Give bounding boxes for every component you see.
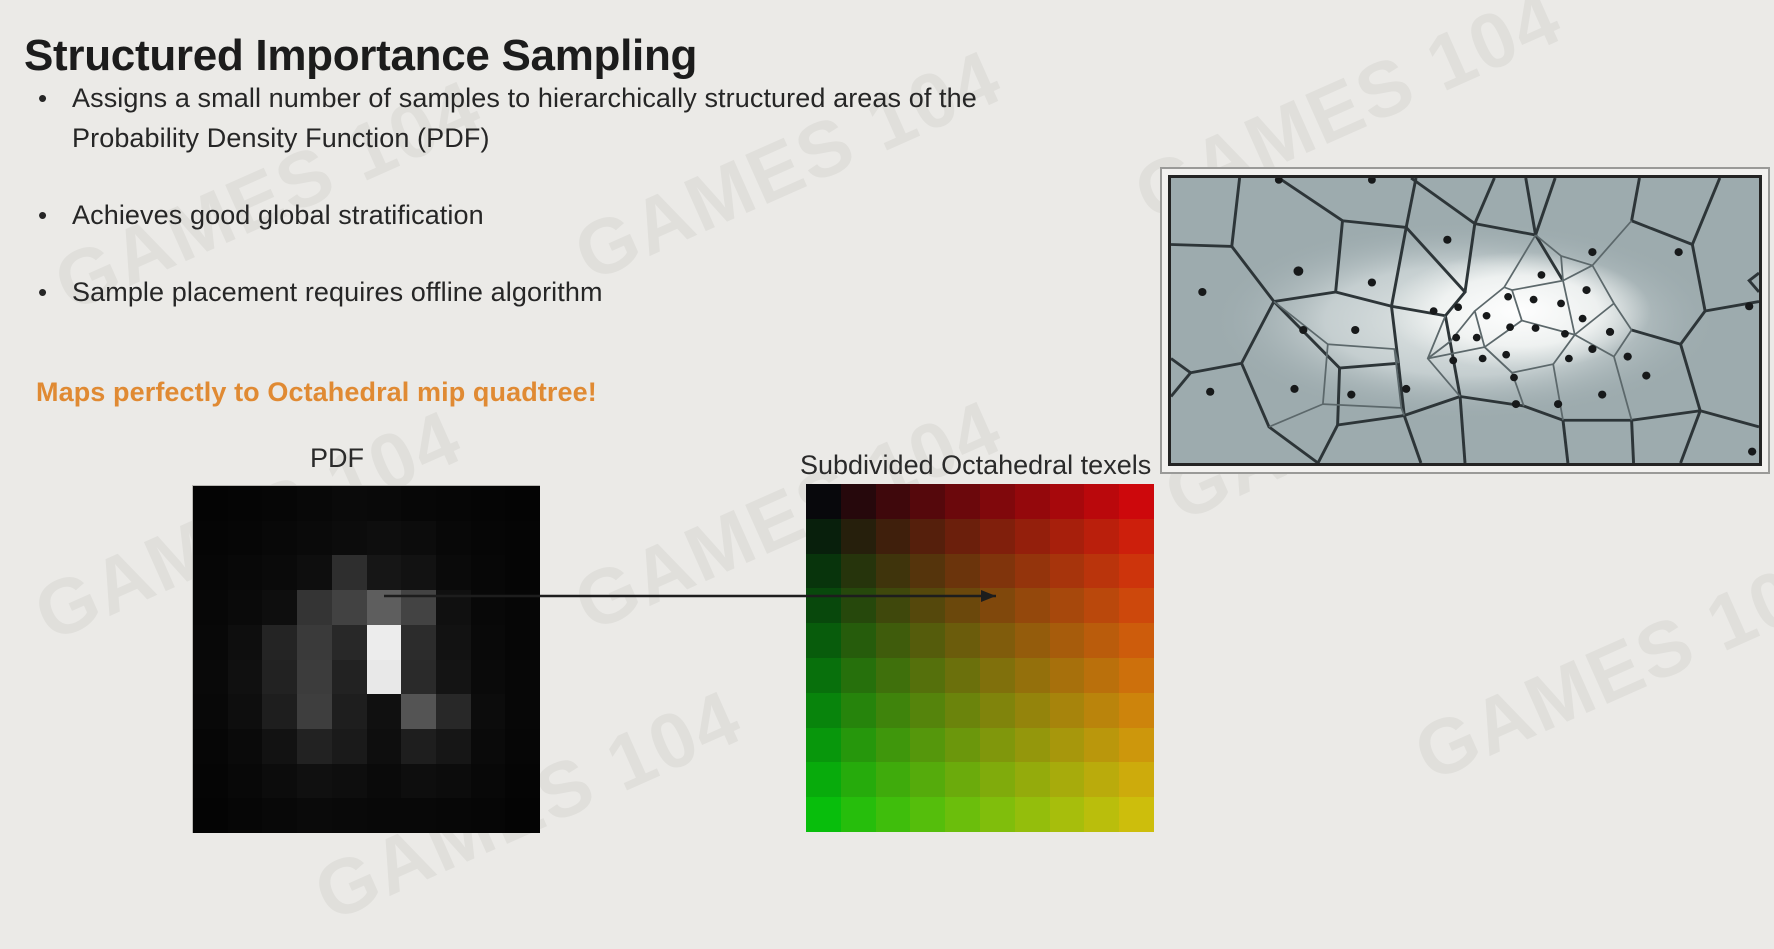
octahedral-texel <box>1015 693 1050 728</box>
pdf-texel <box>471 555 506 590</box>
pdf-texel <box>262 798 297 833</box>
pdf-texel <box>401 555 436 590</box>
octahedral-texel <box>841 519 876 554</box>
pdf-texel <box>436 625 471 660</box>
watermark-text: GAMES 104 <box>1401 531 1774 800</box>
pdf-texel <box>471 694 506 729</box>
octahedral-texel <box>876 554 911 589</box>
pdf-texel <box>262 729 297 764</box>
octahedral-texel <box>1084 554 1119 589</box>
pdf-texel <box>193 590 228 625</box>
voronoi-diagram-panel <box>1160 167 1770 474</box>
pdf-texel <box>471 729 506 764</box>
pdf-texel <box>505 764 540 799</box>
texels-caption: Subdivided Octahedral texels <box>800 450 1151 481</box>
octahedral-texel <box>1084 623 1119 658</box>
octahedral-texel <box>910 728 945 763</box>
octahedral-texel <box>980 554 1015 589</box>
pdf-texel <box>262 694 297 729</box>
octahedral-texel <box>1015 797 1050 832</box>
pdf-texel <box>262 764 297 799</box>
pdf-texel <box>505 590 540 625</box>
pdf-texel <box>262 486 297 521</box>
octahedral-texel <box>841 797 876 832</box>
pdf-texel <box>262 625 297 660</box>
octahedral-texel <box>1119 762 1154 797</box>
octahedral-texel <box>1050 588 1085 623</box>
octahedral-texel <box>1050 623 1085 658</box>
pdf-texel <box>228 625 263 660</box>
pdf-texel <box>297 694 332 729</box>
octahedral-texel <box>910 797 945 832</box>
pdf-texel <box>367 521 402 556</box>
pdf-texel <box>262 521 297 556</box>
octahedral-texel <box>1084 519 1119 554</box>
pdf-texel <box>193 729 228 764</box>
pdf-texel <box>332 590 367 625</box>
pdf-texel <box>193 694 228 729</box>
highlight-callout-text: Maps perfectly to Octahedral mip quadtre… <box>36 377 597 408</box>
octahedral-texel <box>945 554 980 589</box>
octahedral-texel <box>1015 728 1050 763</box>
pdf-texel <box>471 590 506 625</box>
pdf-texel <box>505 555 540 590</box>
octahedral-texel <box>1119 554 1154 589</box>
octahedral-texel <box>1050 797 1085 832</box>
pdf-texel <box>505 660 540 695</box>
octahedral-texel <box>806 762 841 797</box>
octahedral-texel <box>1015 588 1050 623</box>
octahedral-texel <box>1050 554 1085 589</box>
pdf-texel <box>228 798 263 833</box>
octahedral-texel <box>945 762 980 797</box>
octahedral-texel <box>910 762 945 797</box>
pdf-texel <box>401 729 436 764</box>
pdf-texel <box>401 694 436 729</box>
pdf-texel <box>297 590 332 625</box>
pdf-texel <box>401 590 436 625</box>
octahedral-texel <box>980 658 1015 693</box>
pdf-texel <box>505 798 540 833</box>
octahedral-texel <box>945 693 980 728</box>
pdf-texel <box>401 521 436 556</box>
octahedral-texel <box>876 588 911 623</box>
octahedral-texel <box>1015 554 1050 589</box>
pdf-texel <box>367 555 402 590</box>
pdf-texel <box>193 798 228 833</box>
octahedral-texel <box>910 588 945 623</box>
octahedral-texel <box>980 519 1015 554</box>
pdf-texel <box>332 694 367 729</box>
octahedral-texel <box>841 484 876 519</box>
octahedral-texel <box>841 762 876 797</box>
octahedral-texel <box>806 554 841 589</box>
octahedral-texel <box>945 623 980 658</box>
octahedral-texel <box>806 519 841 554</box>
octahedral-texel <box>841 623 876 658</box>
bullet-marker-icon: • <box>34 195 72 235</box>
pdf-texel <box>505 694 540 729</box>
pdf-texel <box>367 729 402 764</box>
octahedral-texel <box>980 693 1015 728</box>
pdf-texel <box>228 660 263 695</box>
octahedral-texel <box>806 658 841 693</box>
pdf-texel <box>505 521 540 556</box>
octahedral-texel <box>1015 762 1050 797</box>
pdf-texel <box>332 798 367 833</box>
octahedral-texel <box>1050 519 1085 554</box>
octahedral-texel <box>1119 693 1154 728</box>
octahedral-texel <box>980 484 1015 519</box>
octahedral-texel <box>806 588 841 623</box>
pdf-texel <box>436 521 471 556</box>
octahedral-texel <box>1084 797 1119 832</box>
pdf-texel <box>367 590 402 625</box>
pdf-texel <box>193 660 228 695</box>
pdf-pixel-grid <box>192 485 540 833</box>
pdf-texel <box>332 486 367 521</box>
pdf-texel <box>297 521 332 556</box>
pdf-texel <box>297 486 332 521</box>
pdf-texel <box>297 555 332 590</box>
octahedral-texel <box>876 693 911 728</box>
octahedral-texel <box>1015 519 1050 554</box>
octahedral-texel <box>1015 484 1050 519</box>
octahedral-texel <box>841 693 876 728</box>
pdf-texel <box>401 625 436 660</box>
pdf-texel <box>436 555 471 590</box>
bullet-text: Achieves good global stratification <box>72 195 484 235</box>
bullet-text: Sample placement requires offline algori… <box>72 272 603 312</box>
pdf-texel <box>367 486 402 521</box>
voronoi-diagram <box>1168 175 1762 466</box>
pdf-texel <box>332 660 367 695</box>
pdf-texel <box>262 590 297 625</box>
octahedral-texel <box>1015 623 1050 658</box>
octahedral-texel <box>876 623 911 658</box>
octahedral-texel <box>910 554 945 589</box>
octahedral-texel <box>910 658 945 693</box>
pdf-texel <box>436 486 471 521</box>
octahedral-texel <box>945 797 980 832</box>
octahedral-texel <box>806 797 841 832</box>
octahedral-texel <box>1119 519 1154 554</box>
octahedral-texel <box>806 484 841 519</box>
pdf-texel <box>471 521 506 556</box>
octahedral-texel <box>1050 484 1085 519</box>
octahedral-texel <box>876 484 911 519</box>
pdf-texel <box>436 764 471 799</box>
pdf-texel <box>297 764 332 799</box>
octahedral-texel <box>945 519 980 554</box>
pdf-texel <box>505 486 540 521</box>
octahedral-texel <box>1084 728 1119 763</box>
octahedral-texel <box>876 728 911 763</box>
octahedral-texel <box>1050 762 1085 797</box>
octahedral-texel <box>1084 484 1119 519</box>
pdf-texel <box>332 764 367 799</box>
pdf-texel <box>228 555 263 590</box>
octahedral-texel <box>841 588 876 623</box>
octahedral-texel <box>1050 658 1085 693</box>
pdf-texel <box>228 694 263 729</box>
octahedral-texel <box>841 658 876 693</box>
pdf-texel <box>193 521 228 556</box>
octahedral-texel <box>876 519 911 554</box>
pdf-texel <box>228 521 263 556</box>
octahedral-texel <box>945 484 980 519</box>
octahedral-texel <box>945 588 980 623</box>
pdf-texel <box>228 486 263 521</box>
octahedral-texel <box>1119 588 1154 623</box>
bullet-marker-icon: • <box>34 272 72 312</box>
pdf-texel <box>297 729 332 764</box>
octahedral-texel <box>1119 658 1154 693</box>
bullet-text: Assigns a small number of samples to hie… <box>72 78 1014 158</box>
pdf-texel <box>436 660 471 695</box>
octahedral-texel <box>910 693 945 728</box>
pdf-texel <box>436 798 471 833</box>
pdf-texel <box>332 521 367 556</box>
octahedral-texel <box>945 728 980 763</box>
pdf-texel <box>401 486 436 521</box>
pdf-texel <box>401 764 436 799</box>
pdf-texel <box>505 625 540 660</box>
pdf-caption: PDF <box>310 443 364 474</box>
pdf-texel <box>332 625 367 660</box>
octahedral-texel <box>1050 693 1085 728</box>
pdf-texel <box>297 798 332 833</box>
octahedral-texel <box>980 762 1015 797</box>
pdf-texel <box>367 694 402 729</box>
octahedral-texel <box>1084 588 1119 623</box>
octahedral-texel-grid <box>806 484 1154 832</box>
pdf-texel <box>228 729 263 764</box>
pdf-texel <box>228 764 263 799</box>
octahedral-texel <box>841 728 876 763</box>
pdf-texel <box>367 764 402 799</box>
pdf-texel <box>193 555 228 590</box>
octahedral-texel <box>910 623 945 658</box>
octahedral-texel <box>910 484 945 519</box>
octahedral-texel <box>841 554 876 589</box>
pdf-texel <box>332 729 367 764</box>
octahedral-texel <box>876 797 911 832</box>
octahedral-texel <box>910 519 945 554</box>
pdf-texel <box>367 625 402 660</box>
octahedral-texel <box>1084 658 1119 693</box>
list-item: • Assigns a small number of samples to h… <box>34 78 1014 158</box>
pdf-texel <box>436 590 471 625</box>
pdf-texel <box>505 729 540 764</box>
bullet-marker-icon: • <box>34 78 72 118</box>
pdf-texel <box>471 764 506 799</box>
octahedral-texel <box>806 623 841 658</box>
octahedral-texel <box>876 762 911 797</box>
pdf-texel <box>193 625 228 660</box>
octahedral-texel <box>806 728 841 763</box>
octahedral-texel <box>980 797 1015 832</box>
list-item: • Sample placement requires offline algo… <box>34 272 1014 312</box>
pdf-texel <box>471 486 506 521</box>
pdf-texel <box>297 625 332 660</box>
octahedral-texel <box>945 658 980 693</box>
pdf-texel <box>401 798 436 833</box>
page-title: Structured Importance Sampling <box>24 31 697 82</box>
pdf-texel <box>401 660 436 695</box>
pdf-texel <box>193 764 228 799</box>
pdf-texel <box>471 798 506 833</box>
pdf-texel <box>332 555 367 590</box>
pdf-texel <box>367 660 402 695</box>
octahedral-texel <box>1084 762 1119 797</box>
octahedral-texel <box>1050 728 1085 763</box>
octahedral-texel <box>1119 484 1154 519</box>
octahedral-texel <box>876 658 911 693</box>
octahedral-texel <box>980 728 1015 763</box>
octahedral-texel <box>980 588 1015 623</box>
octahedral-texel <box>1119 797 1154 832</box>
pdf-texel <box>297 660 332 695</box>
octahedral-texel <box>1084 693 1119 728</box>
octahedral-texel <box>1119 728 1154 763</box>
pdf-texel <box>436 694 471 729</box>
pdf-texel <box>193 486 228 521</box>
octahedral-texel <box>806 693 841 728</box>
voronoi-cells-graphic <box>1171 178 1759 463</box>
pdf-texel <box>367 798 402 833</box>
bullet-list: • Assigns a small number of samples to h… <box>34 78 1014 349</box>
pdf-texel <box>262 555 297 590</box>
pdf-texel <box>436 729 471 764</box>
pdf-texel <box>471 660 506 695</box>
pdf-texel <box>262 660 297 695</box>
octahedral-texel <box>1015 658 1050 693</box>
pdf-texel <box>228 590 263 625</box>
octahedral-texel <box>980 623 1015 658</box>
list-item: • Achieves good global stratification <box>34 195 1014 235</box>
octahedral-texel <box>1119 623 1154 658</box>
pdf-texel <box>471 625 506 660</box>
